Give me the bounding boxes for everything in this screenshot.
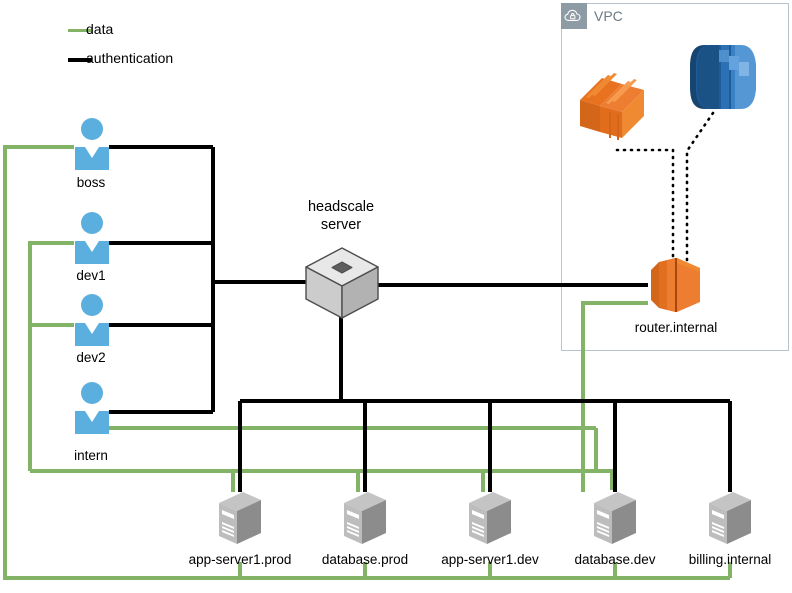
dotted-blue-to-router (687, 113, 713, 262)
server-database-dev-label: database.dev (574, 552, 655, 567)
network-diagram-canvas: data authentication VPC (0, 0, 792, 593)
user-boss-label: boss (77, 175, 106, 190)
user-icon (74, 382, 110, 434)
router-internal-node[interactable] (648, 256, 704, 319)
server-tower-icon (705, 490, 755, 546)
user-intern[interactable] (74, 382, 110, 439)
server-billing-internal[interactable] (705, 490, 755, 551)
server-app-server1-prod-label: app-server1.prod (189, 552, 292, 567)
data-line-drop-db-dev-upper (596, 428, 612, 490)
user-icon (74, 118, 110, 170)
user-dev1-label: dev1 (76, 268, 105, 283)
user-dev1[interactable] (74, 212, 110, 269)
server-tower-icon (215, 490, 265, 546)
server-tower-icon (590, 490, 640, 546)
server-database-dev[interactable] (590, 490, 640, 551)
server-tower-icon (465, 490, 515, 546)
user-dev2-label: dev2 (76, 350, 105, 365)
server-tower-icon (340, 490, 390, 546)
data-line-dev1-bus (30, 243, 74, 471)
server-app-server1-prod[interactable] (215, 490, 265, 551)
aws-router-orange-icon (648, 256, 704, 314)
vpc-node-orange[interactable] (578, 70, 654, 157)
aws-instances-blue-icon (685, 40, 765, 120)
headscale-server-title-line1: headscale (308, 199, 374, 216)
user-icon (74, 294, 110, 346)
dotted-orange-to-router (617, 150, 673, 262)
headscale-server-node[interactable] (303, 245, 381, 326)
user-boss[interactable] (74, 118, 110, 175)
server-database-prod[interactable] (340, 490, 390, 551)
user-dev2[interactable] (74, 294, 110, 351)
cube-server-icon (303, 245, 381, 321)
vpc-node-blue[interactable] (685, 40, 765, 125)
user-intern-label: intern (74, 448, 108, 463)
headscale-server-title-line2: server (321, 217, 361, 234)
server-app-server1-dev[interactable] (465, 490, 515, 551)
server-billing-internal-label: billing.internal (689, 552, 772, 567)
user-icon (74, 212, 110, 264)
router-internal-label: router.internal (635, 320, 718, 335)
server-app-server1-dev-label: app-server1.dev (441, 552, 539, 567)
server-database-prod-label: database.prod (322, 552, 408, 567)
aws-instances-orange-icon (578, 70, 654, 152)
